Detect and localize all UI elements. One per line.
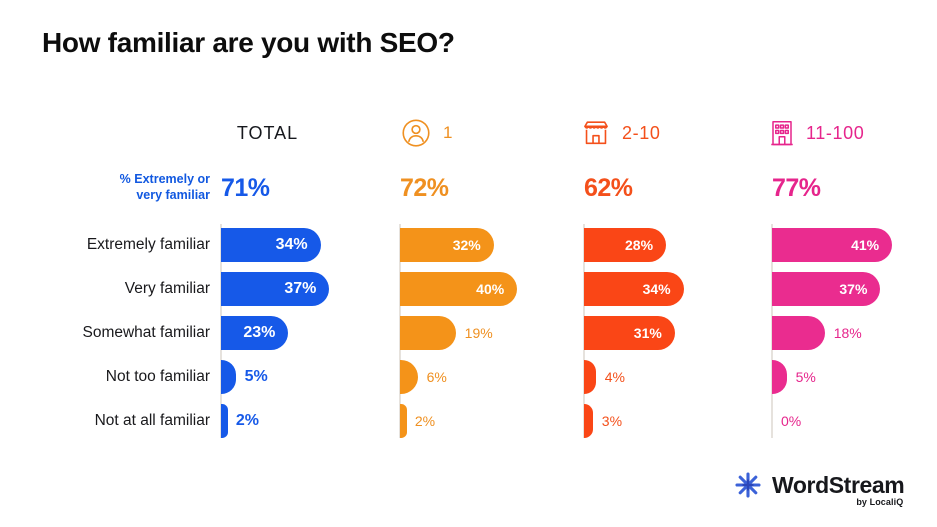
bar bbox=[584, 404, 593, 438]
column-header-label: TOTAL bbox=[237, 123, 298, 144]
row-label: Very familiar bbox=[20, 272, 210, 306]
bar: 32% bbox=[400, 228, 494, 262]
row-label: Not too familiar bbox=[20, 360, 210, 394]
bar bbox=[400, 404, 407, 438]
bar bbox=[400, 316, 456, 350]
storefront-icon bbox=[580, 117, 612, 149]
bar-value-label: 19% bbox=[465, 316, 493, 350]
summary-value-11-100: 77% bbox=[772, 174, 821, 203]
bar-value-label: 34% bbox=[643, 281, 684, 297]
logo-wordmark: WordStream bbox=[772, 474, 904, 497]
bar bbox=[221, 404, 228, 438]
person-icon bbox=[401, 118, 431, 148]
bar-chart: TOTAL 1 2-10 bbox=[0, 0, 937, 527]
bar: 31% bbox=[584, 316, 675, 350]
bar: 23% bbox=[221, 316, 288, 350]
bar-value-label: 32% bbox=[453, 237, 494, 253]
bar-value-label: 41% bbox=[851, 237, 892, 253]
column-header-total: TOTAL bbox=[200, 108, 335, 158]
summary-value-total: 71% bbox=[221, 174, 270, 203]
column-header-1: 1 bbox=[375, 108, 520, 158]
bar bbox=[772, 360, 787, 394]
asterisk-icon bbox=[733, 470, 763, 500]
bar-value-label: 37% bbox=[839, 281, 880, 297]
bar-value-label: 23% bbox=[243, 324, 288, 342]
bar: 34% bbox=[221, 228, 321, 262]
summary-label-line2: very familiar bbox=[60, 188, 210, 204]
summary-label-line1: % Extremely or bbox=[60, 172, 210, 188]
bar-value-label: 2% bbox=[415, 404, 435, 438]
bar-value-label: 37% bbox=[284, 280, 329, 298]
bar-value-label: 2% bbox=[236, 404, 259, 438]
bar-value-label: 4% bbox=[605, 360, 625, 394]
row-label: Somewhat familiar bbox=[20, 316, 210, 350]
bar: 28% bbox=[584, 228, 666, 262]
bar bbox=[772, 316, 825, 350]
row-label: Extremely familiar bbox=[20, 228, 210, 262]
bar: 37% bbox=[221, 272, 329, 306]
bar-value-label: 5% bbox=[245, 360, 268, 394]
building-icon bbox=[768, 118, 796, 148]
bar-value-label: 18% bbox=[834, 316, 862, 350]
bar bbox=[584, 360, 596, 394]
bar-value-label: 31% bbox=[634, 325, 675, 341]
bar-value-label: 28% bbox=[625, 237, 666, 253]
column-header-2-10: 2-10 bbox=[560, 108, 713, 158]
logo-tagline: by LocaliQ bbox=[856, 497, 903, 507]
column-header-label: 11-100 bbox=[806, 123, 864, 144]
bar-value-label: 5% bbox=[796, 360, 816, 394]
bar-value-label: 3% bbox=[602, 404, 622, 438]
bar-value-label: 6% bbox=[427, 360, 447, 394]
bar-value-label: 0% bbox=[781, 404, 801, 438]
logo-text-block: WordStream by LocaliQ bbox=[772, 474, 904, 497]
bar: 40% bbox=[400, 272, 517, 306]
summary-value-2-10: 62% bbox=[584, 174, 633, 203]
column-header-label: 1 bbox=[443, 123, 453, 143]
bar bbox=[221, 360, 236, 394]
bar bbox=[400, 360, 418, 394]
bar: 37% bbox=[772, 272, 880, 306]
bar-value-label: 34% bbox=[276, 236, 321, 254]
column-header-11-100: 11-100 bbox=[748, 108, 896, 158]
row-label: Not at all familiar bbox=[20, 404, 210, 438]
wordstream-logo: WordStream by LocaliQ bbox=[733, 470, 904, 500]
column-header-label: 2-10 bbox=[622, 123, 660, 144]
summary-row-label: % Extremely or very familiar bbox=[60, 172, 210, 203]
bar: 34% bbox=[584, 272, 684, 306]
summary-value-1: 72% bbox=[400, 174, 449, 203]
bar: 41% bbox=[772, 228, 892, 262]
bar-value-label: 40% bbox=[476, 281, 517, 297]
